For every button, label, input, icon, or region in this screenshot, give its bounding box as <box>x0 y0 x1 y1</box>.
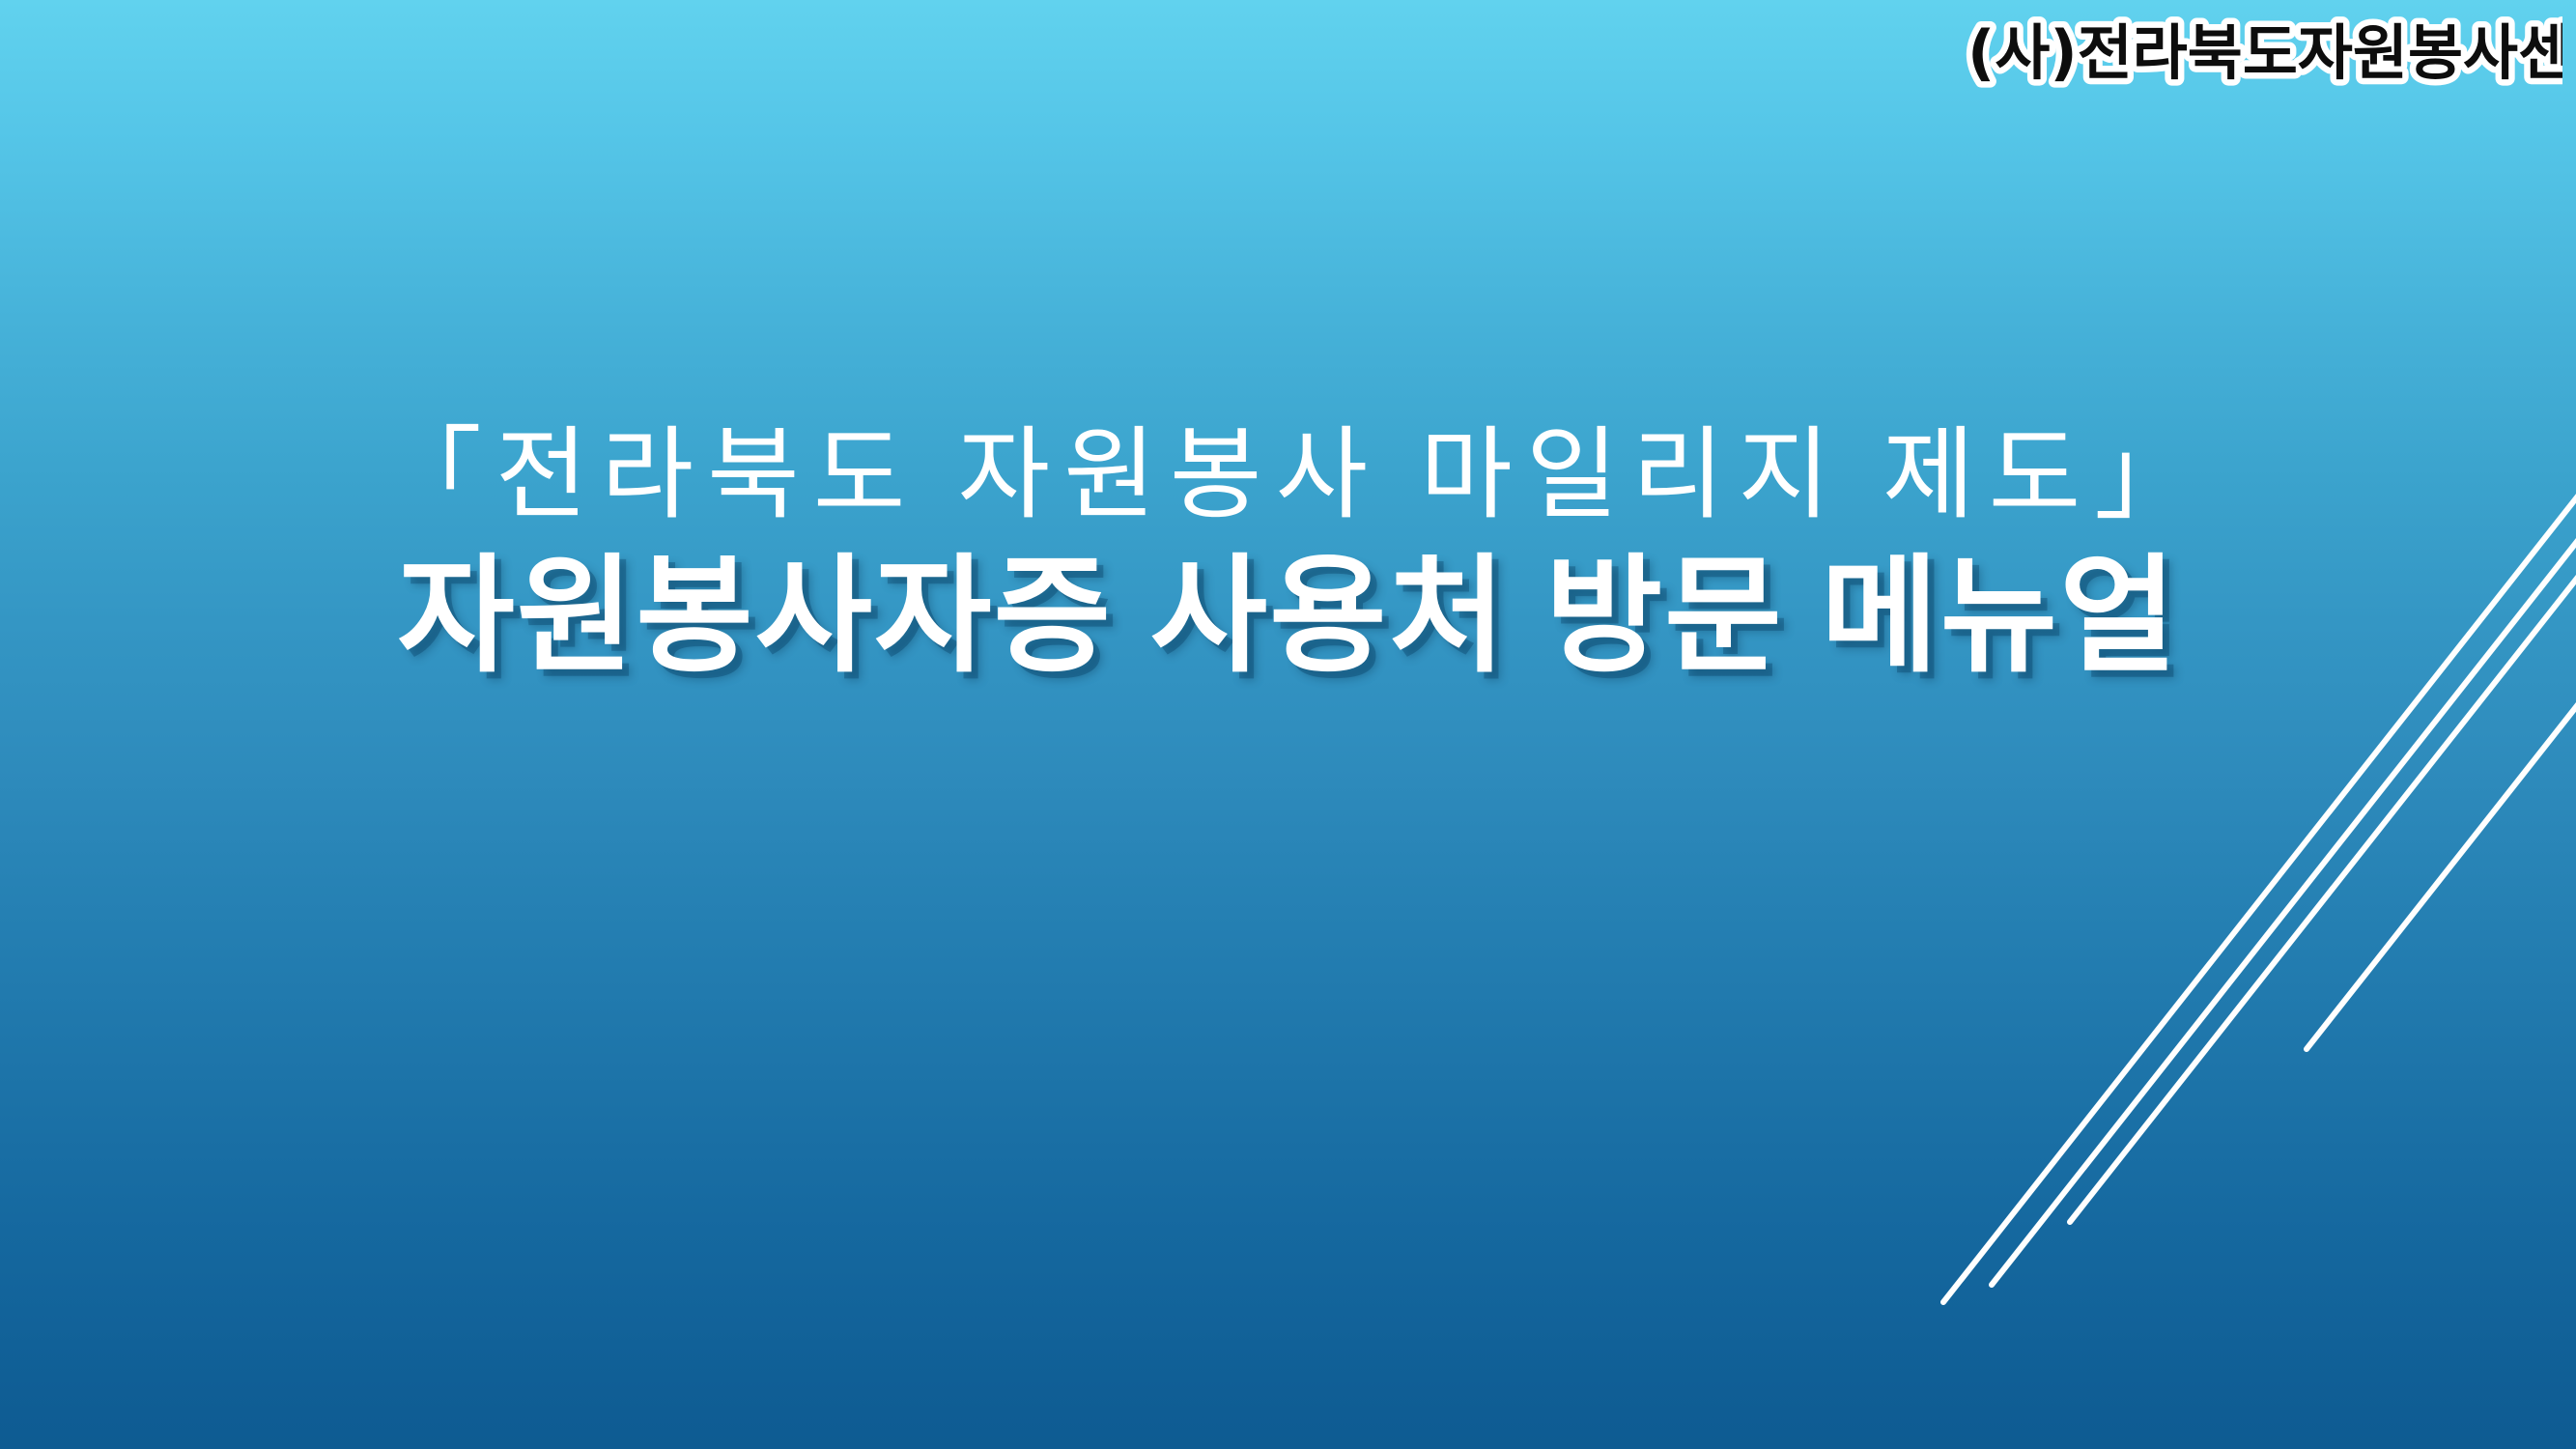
organization-logo: (사)전라북도자원봉사센터 (사)전라북도자원봉사센터 <box>1964 8 2562 91</box>
title-block: 「전라북도 자원봉사 마일리지 제도」 자원봉사자증 사용처 방문 메뉴얼 <box>0 417 2576 690</box>
presentation-title-slide: (사)전라북도자원봉사센터 (사)전라북도자원봉사센터 「전라북도 자원봉사 마… <box>0 0 2576 1449</box>
title-main-line: 자원봉사자증 사용처 방문 메뉴얼 <box>0 542 2576 690</box>
diagonal-line-4 <box>2307 667 2576 1049</box>
logo-artwork: (사)전라북도자원봉사센터 (사)전라북도자원봉사센터 <box>1964 8 2562 91</box>
diagonal-accent-lines <box>0 0 2576 1449</box>
logo-text-fill: (사)전라북도자원봉사센터 <box>1967 17 2562 88</box>
title-subtitle-line: 「전라북도 자원봉사 마일리지 제도」 <box>0 417 2576 536</box>
